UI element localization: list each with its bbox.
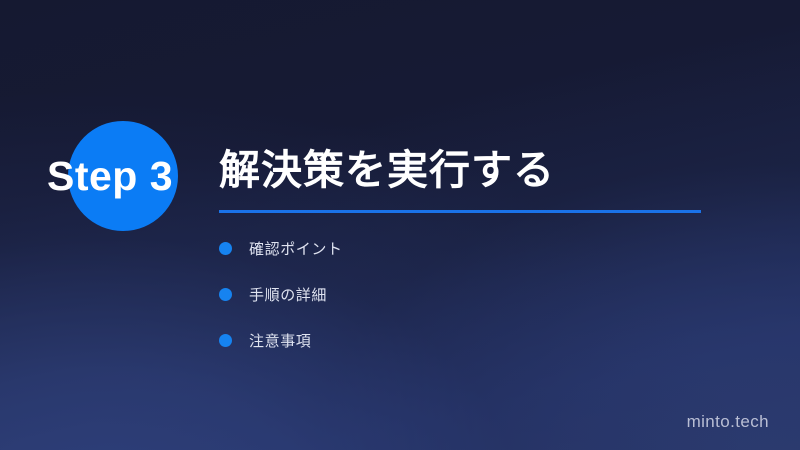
bullet-dot-icon — [219, 242, 232, 255]
list-item: 手順の詳細 — [219, 280, 639, 309]
bullet-list: 確認ポイント 手順の詳細 注意事項 — [219, 234, 639, 372]
step-number-label: Step 3 — [47, 150, 173, 202]
footer-brand-label: minto.tech — [687, 412, 769, 432]
list-item: 注意事項 — [219, 326, 639, 355]
list-item-label: 手順の詳細 — [249, 284, 327, 305]
bullet-dot-icon — [219, 334, 232, 347]
slide-title: 解決策を実行する — [219, 142, 555, 198]
presentation-slide: Step 3 解決策を実行する 確認ポイント 手順の詳細 注意事項 minto.… — [0, 0, 800, 450]
title-divider — [219, 210, 701, 213]
list-item-label: 確認ポイント — [249, 238, 343, 259]
bullet-dot-icon — [219, 288, 232, 301]
list-item: 確認ポイント — [219, 234, 639, 263]
list-item-label: 注意事項 — [249, 330, 311, 351]
